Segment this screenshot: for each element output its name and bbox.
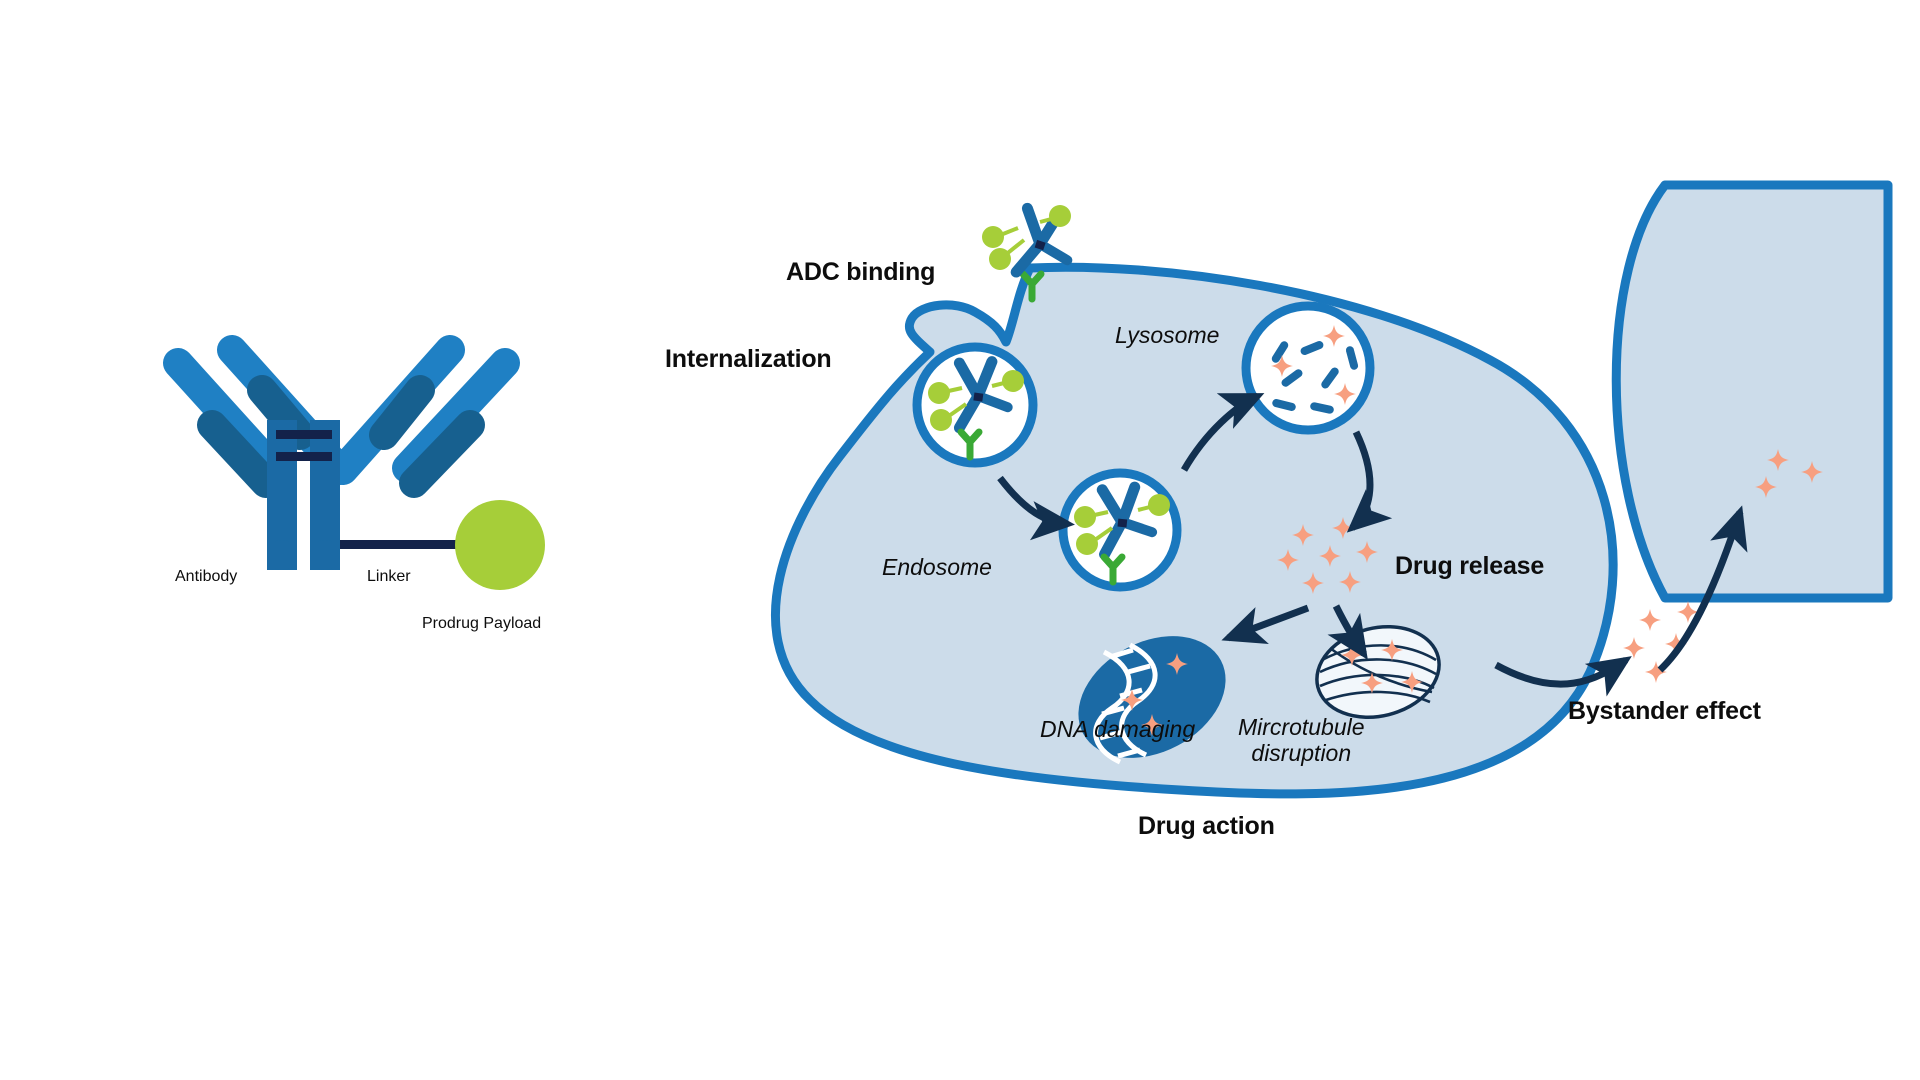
diagram-svg — [0, 0, 1920, 1080]
adc-structure-graphic — [178, 350, 545, 590]
label-dna-damaging: DNA damaging — [1040, 717, 1195, 743]
payload-sphere — [989, 248, 1011, 270]
endosome-vesicle — [1063, 473, 1177, 587]
lysosome-vesicle — [1246, 306, 1370, 430]
label-drug-action: Drug action — [1138, 812, 1275, 840]
label-linker: Linker — [367, 568, 411, 586]
payload-sphere — [982, 226, 1004, 248]
disulfide-bond-lower — [276, 452, 332, 461]
label-lysosome: Lysosome — [1115, 323, 1219, 349]
payload-sphere — [1049, 205, 1071, 227]
label-prodrug-payload: Prodrug Payload — [422, 615, 541, 633]
prodrug-payload-sphere — [455, 500, 545, 590]
label-internalization: Internalization — [665, 345, 831, 373]
bystander-cell-body — [1616, 185, 1888, 598]
label-microtubule-disruption: Mircrotubule disruption — [1238, 715, 1365, 767]
linker-bond — [340, 540, 464, 549]
label-endosome: Endosome — [882, 555, 992, 581]
label-adc-binding: ADC binding — [786, 258, 935, 286]
figure-canvas: Antibody Linker Prodrug Payload ADC bind… — [0, 0, 1920, 1080]
label-drug-release: Drug release — [1395, 552, 1544, 580]
disulfide-bond-upper — [276, 430, 332, 439]
internalization-vesicle — [917, 347, 1033, 463]
label-antibody: Antibody — [175, 568, 237, 586]
label-bystander-effect: Bystander effect — [1568, 697, 1761, 725]
